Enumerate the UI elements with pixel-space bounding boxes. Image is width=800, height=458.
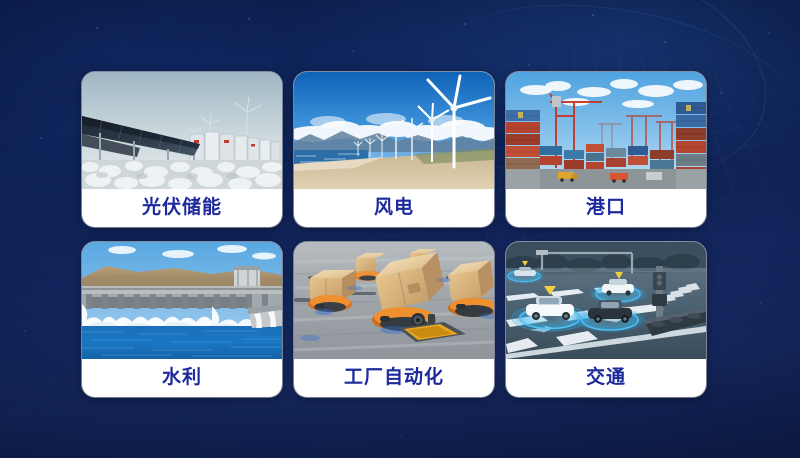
scenario-card-port[interactable]: 港口 bbox=[506, 72, 706, 227]
scenario-card-transportation[interactable]: 交通 bbox=[506, 242, 706, 397]
shipping-container-port-with-gantry-cranes-image bbox=[506, 72, 706, 189]
scenario-card-label: 风电 bbox=[294, 189, 494, 227]
coastal-wind-turbine-farm-on-beach-image bbox=[294, 72, 494, 189]
scenario-card-factory-automation[interactable]: 工厂自动化 bbox=[294, 242, 494, 397]
scenario-card-solar-storage[interactable]: 光伏储能 bbox=[82, 72, 282, 227]
scenario-card-label: 交通 bbox=[506, 359, 706, 397]
scenario-card-water-conservancy[interactable]: 水利 bbox=[82, 242, 282, 397]
scenario-card-label: 水利 bbox=[82, 359, 282, 397]
scenario-card-label: 光伏储能 bbox=[82, 189, 282, 227]
hydroelectric-dam-spillway-on-river-image bbox=[82, 242, 282, 359]
agv-warehouse-robots-carrying-cardboard-boxes-image bbox=[294, 242, 494, 359]
solar-panel-farm-with-battery-storage-and-wind-turbines-image bbox=[82, 72, 282, 189]
scenario-card-label: 港口 bbox=[506, 189, 706, 227]
scenario-card-wind-power[interactable]: 风电 bbox=[294, 72, 494, 227]
scenario-card-label: 工厂自动化 bbox=[294, 359, 494, 397]
smart-traffic-connected-vehicles-on-highway-image bbox=[506, 242, 706, 359]
scenario-card-grid: 光伏储能 bbox=[82, 72, 706, 397]
